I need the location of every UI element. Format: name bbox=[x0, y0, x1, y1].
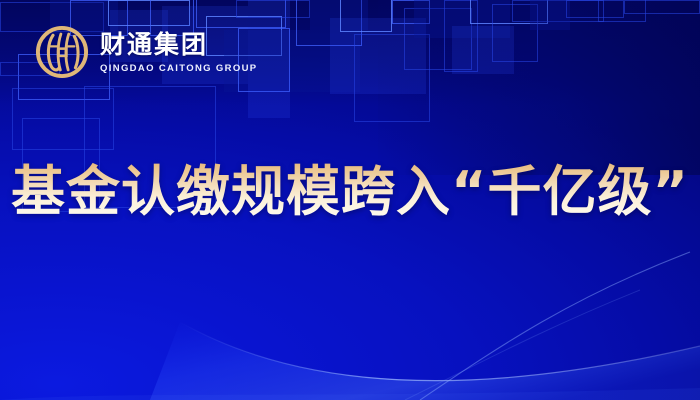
brand-logo-lockup: 财通集团 QINGDAO CAITONG GROUP bbox=[34, 24, 258, 80]
brand-wordmark: 财通集团 QINGDAO CAITONG GROUP bbox=[100, 31, 258, 74]
decor-rect-31 bbox=[530, 0, 570, 30]
company-name-en: QINGDAO CAITONG GROUP bbox=[100, 63, 258, 74]
swoosh-curve-decoration bbox=[0, 250, 700, 400]
decor-rect-21 bbox=[340, 0, 392, 32]
company-name-cn: 财通集团 bbox=[100, 31, 258, 58]
caitong-circular-emblem-icon bbox=[34, 24, 90, 80]
headline-title: 基金认缴规模跨入“千亿级” bbox=[0, 160, 700, 224]
decor-rect-34 bbox=[624, 0, 700, 14]
slide-canvas: 财通集团 QINGDAO CAITONG GROUP 基金认缴规模跨入“千亿级” bbox=[0, 0, 700, 400]
